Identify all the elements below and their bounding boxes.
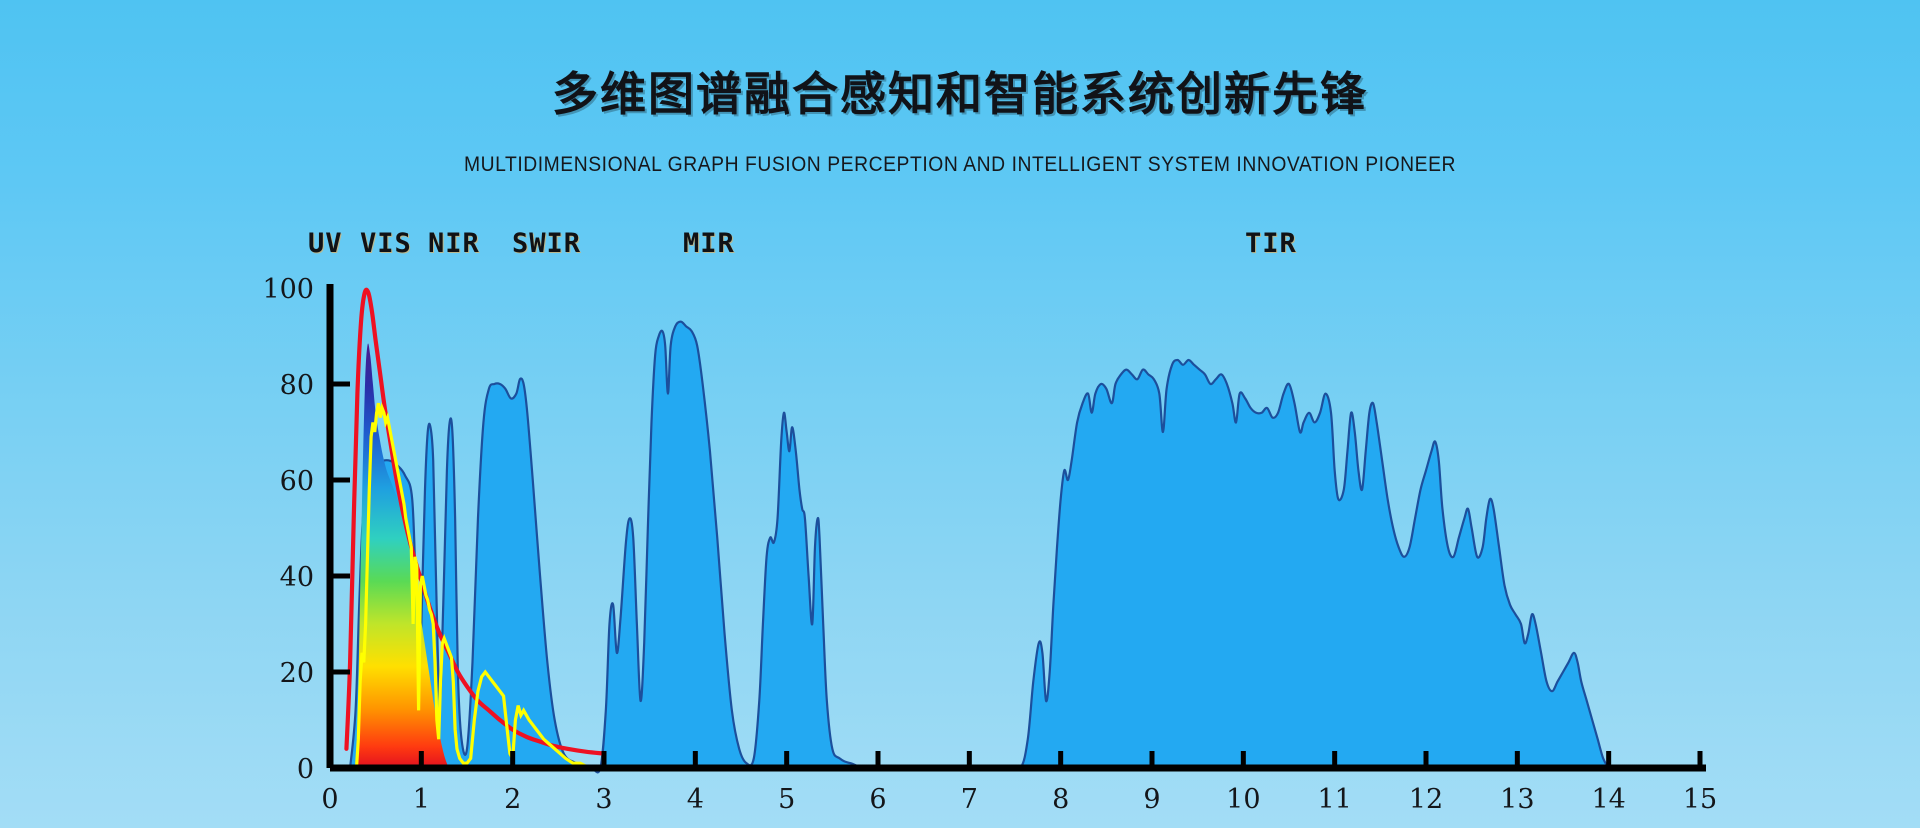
- x-tick-label: 11: [1317, 784, 1351, 815]
- x-tick-label: 0: [321, 784, 338, 815]
- y-tick-label: 60: [280, 466, 314, 497]
- x-tick-label: 10: [1226, 784, 1260, 815]
- x-tick-label: 7: [961, 784, 978, 815]
- y-tick-label: 100: [262, 274, 314, 305]
- poster-canvas: 多维图谱融合感知和智能系统创新先锋 MULTIDIMENSIONAL GRAPH…: [0, 0, 1920, 828]
- y-tick-label: 0: [297, 754, 314, 785]
- x-tick-label: 8: [1052, 784, 1069, 815]
- x-tick-label: 5: [778, 784, 795, 815]
- x-tick-label: 2: [504, 784, 521, 815]
- x-tick-label: 3: [595, 784, 612, 815]
- x-tick-label: 6: [869, 784, 886, 815]
- y-tick-label: 80: [280, 370, 314, 401]
- x-tick-label: 4: [687, 784, 704, 815]
- spectrum-chart: 0123456789101112131415020406080100: [0, 0, 1920, 828]
- transmission-area: [350, 322, 1609, 773]
- transmission-band-path: [350, 322, 1609, 773]
- x-tick-label: 14: [1591, 784, 1625, 815]
- x-tick-label: 12: [1409, 784, 1443, 815]
- x-tick-label: 15: [1683, 784, 1717, 815]
- y-tick-label: 20: [280, 658, 314, 689]
- x-tick-label: 13: [1500, 784, 1534, 815]
- x-tick-label: 9: [1143, 784, 1160, 815]
- x-tick-label: 1: [413, 784, 430, 815]
- y-tick-label: 40: [280, 562, 314, 593]
